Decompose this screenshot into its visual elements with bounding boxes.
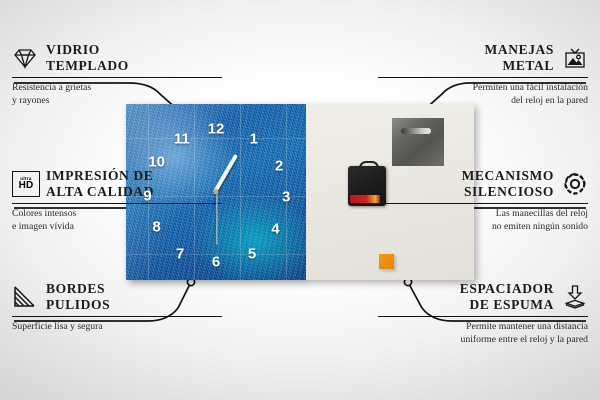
feature-espaciador-de-espuma: ESPACIADOR DE ESPUMA Permite mantener un… (378, 281, 588, 347)
feature-subtitle: Permiten una fácil instalación del reloj… (378, 82, 588, 108)
feature-bordes-pulidos: BORDES PULIDOS Superficie lisa y segura (12, 281, 222, 334)
sub-line-2: no emiten ningún sonido (378, 221, 588, 234)
feature-mecanismo-silencioso: MECANISMO SILENCIOSO Las manecillas del … (378, 168, 588, 234)
clock-numeral-2: 2 (275, 157, 283, 174)
feature-title: MECANISMO SILENCIOSO (462, 168, 554, 200)
picture-frame-hanging-icon (562, 45, 588, 71)
divider (378, 77, 588, 79)
diamond-icon (12, 45, 38, 71)
feature-manejas-metal: MANEJAS METAL Permiten una fácil instala… (378, 42, 588, 108)
foam-spacer (379, 254, 394, 269)
feature-title: ESPACIADOR DE ESPUMA (460, 281, 554, 313)
sub-line-1: Permite mantener una distancia (378, 321, 588, 334)
hanger-slot (401, 128, 431, 134)
divider (12, 77, 222, 79)
feature-title: BORDES PULIDOS (46, 281, 110, 313)
title-line-1: ESPACIADOR (460, 281, 554, 297)
clock-numeral-3: 3 (282, 189, 290, 206)
title-line-2: SILENCIOSO (462, 184, 554, 200)
clock-numeral-5: 5 (248, 245, 256, 262)
clock-numeral-10: 10 (148, 154, 165, 171)
clock-numeral-11: 11 (174, 131, 190, 148)
sub-line-1: Las manecillas del reloj (378, 208, 588, 221)
feature-header: MANEJAS METAL (378, 42, 588, 74)
sub-line-2: del reloj en la pared (378, 95, 588, 108)
sub-line-2: uniforme entre el reloj y la pared (378, 334, 588, 347)
clock-numeral-1: 1 (250, 131, 258, 148)
metal-hanger-plate (392, 118, 444, 166)
title-line-2: METAL (485, 58, 554, 74)
clock-numeral-12: 12 (208, 120, 225, 137)
hd-icon-main-text: HD (19, 181, 34, 191)
clock-center-cap (214, 190, 219, 195)
clock-front-face: 12 1 2 3 4 5 6 7 8 9 10 11 (126, 104, 306, 280)
divider (378, 203, 588, 205)
sub-line-1: Permiten una fácil instalación (378, 82, 588, 95)
clock-numeral-6: 6 (212, 254, 220, 271)
ultra-hd-icon: ultra HD (12, 171, 38, 197)
divider (378, 316, 588, 318)
clock-hand-second (216, 193, 217, 245)
feature-subtitle: Las manecillas del reloj no emiten ningú… (378, 208, 588, 234)
title-line-1: MANEJAS (485, 42, 554, 58)
title-line-1: MECANISMO (462, 168, 554, 184)
movement-hanging-loop (359, 161, 379, 171)
clock-numeral-7: 7 (176, 245, 184, 262)
feature-subtitle: Permite mantener una distancia uniforme … (378, 321, 588, 347)
sub-line-1: Superficie lisa y segura (12, 321, 222, 334)
clock-numeral-8: 8 (152, 219, 160, 236)
feature-header: MECANISMO SILENCIOSO (378, 168, 588, 200)
title-line-2: PULIDOS (46, 297, 110, 313)
feature-title: MANEJAS METAL (485, 42, 554, 74)
title-line-2: DE ESPUMA (460, 297, 554, 313)
sub-line-1: Resistencia a grietas (12, 82, 222, 95)
arrow-down-stack-icon (562, 284, 588, 310)
clock-numeral-4: 4 (271, 220, 279, 237)
title-line-1: BORDES (46, 281, 110, 297)
feature-header: BORDES PULIDOS (12, 281, 222, 313)
feature-subtitle: Superficie lisa y segura (12, 321, 222, 334)
feature-header: ESPACIADOR DE ESPUMA (378, 281, 588, 313)
gear-icon (562, 171, 588, 197)
divider (12, 316, 222, 318)
infographic-stage: 12 1 2 3 4 5 6 7 8 9 10 11 (0, 0, 600, 400)
polished-edge-icon (12, 284, 38, 310)
battery (350, 195, 380, 203)
title-line-1: VIDRIO (46, 42, 129, 58)
title-line-2: TEMPLADO (46, 58, 129, 74)
feature-vidrio-templado: VIDRIO TEMPLADO Resistencia a grietas y … (12, 42, 222, 108)
clock-numeral-9: 9 (143, 187, 151, 204)
feature-header: VIDRIO TEMPLADO (12, 42, 222, 74)
feature-title: VIDRIO TEMPLADO (46, 42, 129, 74)
